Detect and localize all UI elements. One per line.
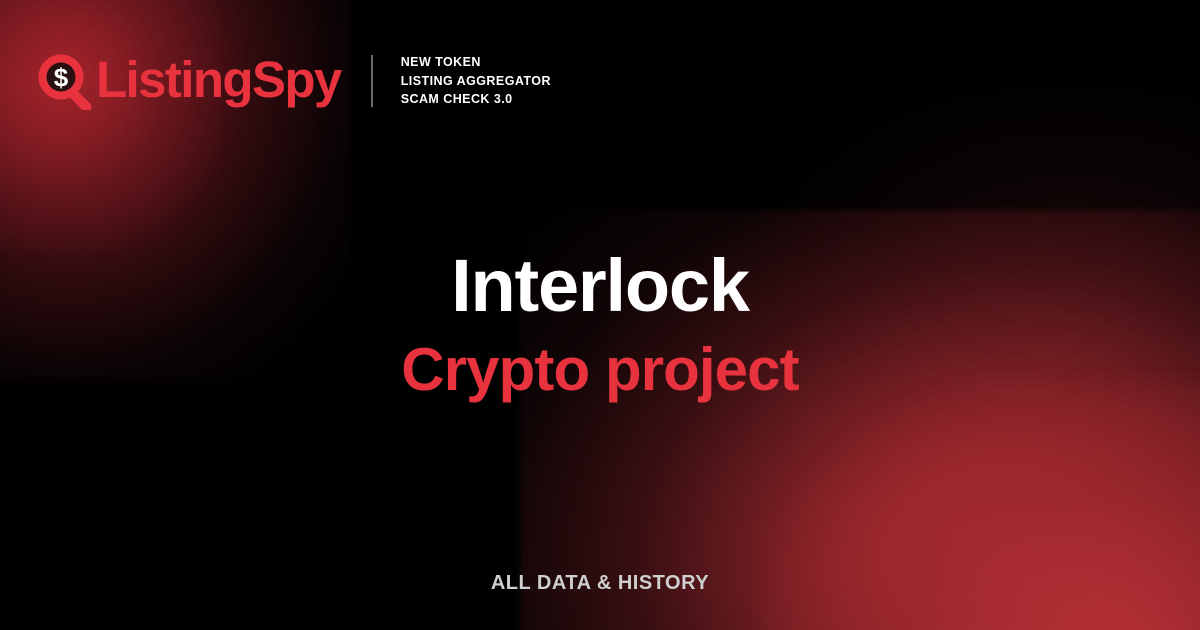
- footer-block: ALL DATA & HISTORY: [0, 572, 1200, 595]
- header-divider: [371, 55, 373, 107]
- brand-wordmark: ListingSpy: [96, 54, 341, 108]
- brand-tagline: NEW TOKEN LISTING AGGREGATOR SCAM CHECK …: [401, 54, 551, 108]
- logo-lockup[interactable]: $ ListingSpy: [36, 52, 341, 110]
- page-subtitle: Crypto project: [0, 339, 1200, 401]
- promo-card: $ ListingSpy NEW TOKEN LISTING AGGREGATO…: [0, 0, 1200, 630]
- page-title: Interlock: [0, 248, 1200, 325]
- brand-header: $ ListingSpy NEW TOKEN LISTING AGGREGATO…: [36, 52, 551, 110]
- glow-top-left-core: [0, 0, 220, 250]
- footer-caption: ALL DATA & HISTORY: [491, 572, 709, 594]
- svg-text:$: $: [54, 63, 69, 93]
- tagline-line-3: SCAM CHECK 3.0: [401, 91, 551, 108]
- magnifier-dollar-icon: $: [36, 52, 92, 110]
- tagline-line-1: NEW TOKEN: [401, 54, 551, 71]
- tagline-line-2: LISTING AGGREGATOR: [401, 73, 551, 90]
- hero-block: Interlock Crypto project: [0, 248, 1200, 401]
